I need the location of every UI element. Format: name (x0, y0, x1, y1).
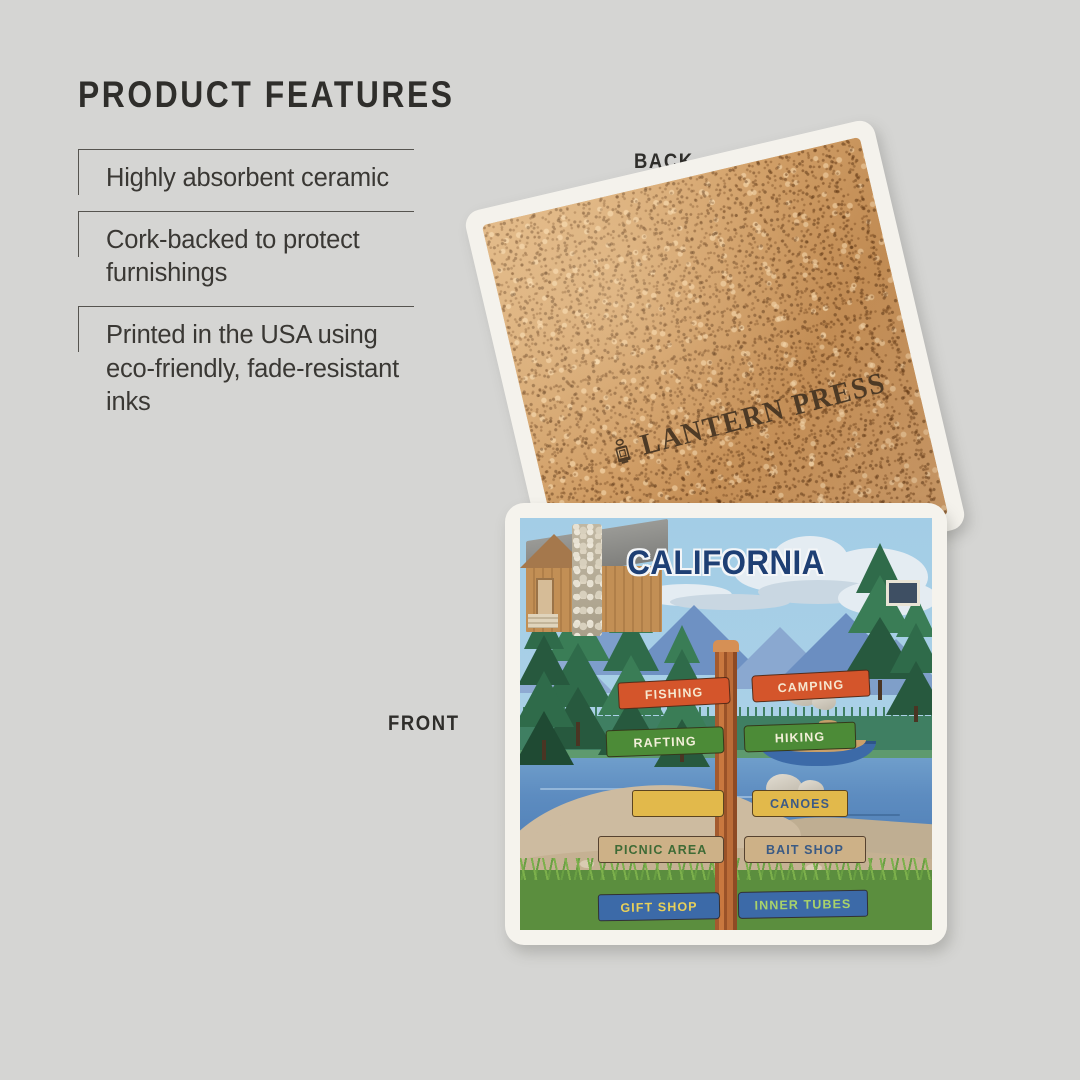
sign-label: CANOES (770, 797, 830, 811)
feature-item-cork-backed: Cork-backed to protect furnishings (78, 211, 418, 306)
sign-bait-shop[interactable]: BAIT SHOP (744, 836, 866, 863)
sign-rafting[interactable]: RAFTING (606, 726, 725, 757)
sign-label: HIKING (775, 729, 826, 745)
divider-tick (78, 306, 79, 352)
divider-rule (78, 211, 414, 212)
signpost-cap (713, 640, 739, 652)
coaster-front: FISHING CAMPING RAFTING HIKING CANOE (505, 503, 947, 945)
sign-picnic-area[interactable]: PICNIC AREA (598, 836, 724, 863)
feature-text: Cork-backed to protect furnishings (106, 226, 360, 287)
artwork-title: CALIFORNIA (536, 544, 915, 583)
sign-row-picnic-bait: PICNIC AREA BAIT SHOP (598, 836, 866, 863)
brand-name: LANTERN PRESS (637, 366, 889, 463)
divider-tick (78, 211, 79, 257)
sign-label: PICNIC AREA (615, 843, 708, 857)
brand-stamp: LANTERN PRESS (607, 367, 889, 470)
feature-item-printed-usa: Printed in the USA using eco-friendly, f… (78, 306, 418, 434)
sign-label: GIFT SHOP (620, 899, 697, 914)
sign-label: INNER TUBES (754, 896, 851, 912)
lantern-icon (608, 436, 636, 467)
feature-text: Highly absorbent ceramic (106, 164, 389, 192)
sign-gift-shop[interactable]: GIFT SHOP (598, 892, 720, 921)
sign-inner-tubes[interactable]: INNER TUBES (738, 890, 868, 919)
divider-tick (78, 149, 79, 195)
sign-label: FISHING (645, 685, 704, 702)
artwork: FISHING CAMPING RAFTING HIKING CANOE (520, 518, 932, 930)
sign-label: RAFTING (633, 734, 697, 750)
divider-rule (78, 149, 414, 150)
sign-row-gift-tubes: GIFT SHOP INNER TUBES (598, 890, 868, 922)
sign-canoes[interactable]: CANOES (752, 790, 848, 817)
pine-tree (886, 592, 932, 722)
product-features-panel: PRODUCT FEATURES Highly absorbent cerami… (78, 76, 418, 435)
page-title: PRODUCT FEATURES (78, 76, 370, 113)
divider-rule (78, 306, 414, 307)
cabin-steps (528, 614, 558, 628)
feature-item-absorbent: Highly absorbent ceramic (78, 149, 418, 211)
sign-label: CAMPING (777, 677, 844, 694)
sign-label: BAIT SHOP (766, 843, 844, 857)
features-list: Highly absorbent ceramic Cork-backed to … (78, 149, 418, 435)
feature-text: Printed in the USA using eco-friendly, f… (106, 321, 399, 415)
cabin-window (886, 580, 920, 606)
sign-hiking[interactable]: HIKING (744, 722, 857, 753)
cabin-door (536, 578, 554, 616)
sign-row-canoes: CANOES (632, 790, 848, 817)
label-front: FRONT (388, 712, 460, 736)
sign-blank[interactable] (632, 790, 724, 817)
